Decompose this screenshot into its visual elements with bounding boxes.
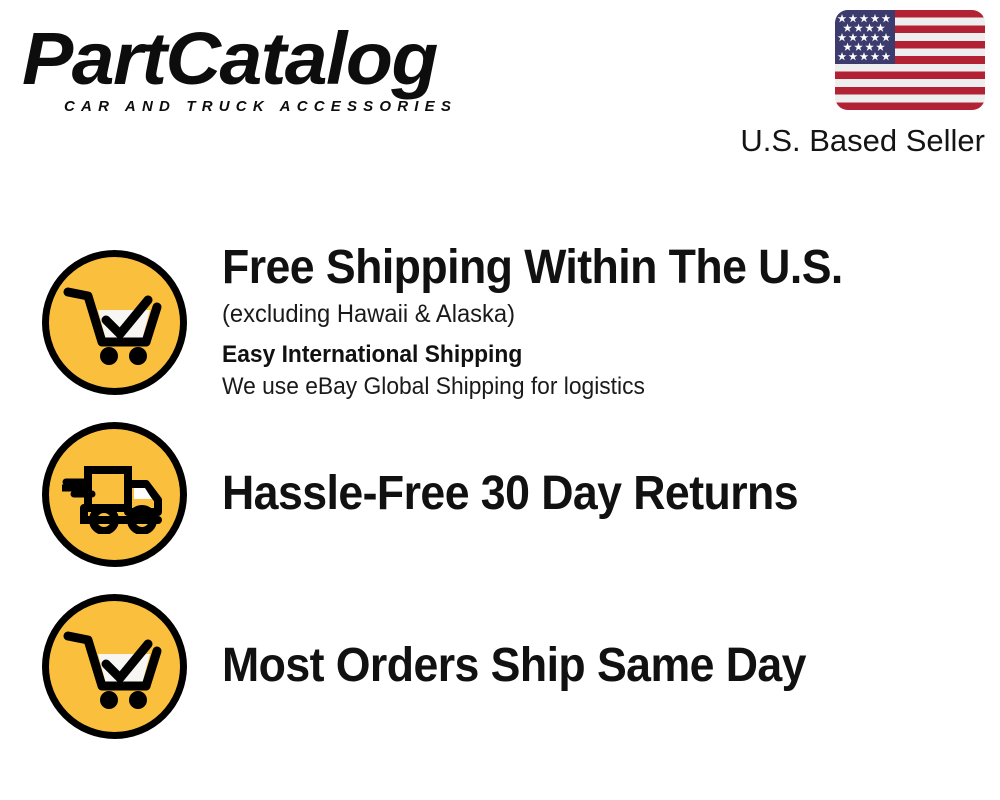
flag-canton (835, 10, 895, 64)
benefit-row: Hassle-Free 30 Day Returns (0, 408, 1000, 580)
delivery-truck-icon (42, 422, 187, 567)
benefit-headline: Hassle-Free 30 Day Returns (222, 467, 946, 521)
brand-wordmark: PartCatalog (22, 22, 511, 96)
brand-logo: PartCatalog CAR AND TRUCK ACCESSORIES (22, 22, 492, 117)
benefits-list: Free Shipping Within The U.S. (excluding… (0, 236, 1000, 752)
seller-label: U.S. Based Seller (715, 123, 985, 159)
us-based-seller-badge: U.S. Based Seller (715, 10, 985, 159)
brand-tagline: CAR AND TRUCK ACCESSORIES (22, 98, 492, 115)
benefit-row: Free Shipping Within The U.S. (excluding… (0, 236, 1000, 408)
benefit-icon-wrap (40, 594, 188, 739)
benefit-text: Most Orders Ship Same Day (188, 639, 1000, 693)
shopping-cart-check-icon (42, 250, 187, 395)
benefit-subline: (excluding Hawaii & Alaska) (222, 298, 961, 331)
benefit-headline: Most Orders Ship Same Day (222, 639, 946, 693)
benefit-note: We use eBay Global Shipping for logistic… (222, 371, 961, 403)
benefit-icon-wrap (40, 422, 188, 567)
shipping-policy-banner: PartCatalog CAR AND TRUCK ACCESSORIES (0, 0, 1000, 800)
benefit-row: Most Orders Ship Same Day (0, 580, 1000, 752)
benefit-subhead: Easy International Shipping (222, 339, 961, 371)
us-flag-icon (835, 10, 985, 110)
benefit-text: Free Shipping Within The U.S. (excluding… (188, 241, 1000, 403)
benefit-headline: Free Shipping Within The U.S. (222, 241, 946, 295)
benefit-icon-wrap (40, 250, 188, 395)
shopping-cart-check-icon (42, 594, 187, 739)
benefit-text: Hassle-Free 30 Day Returns (188, 467, 1000, 521)
